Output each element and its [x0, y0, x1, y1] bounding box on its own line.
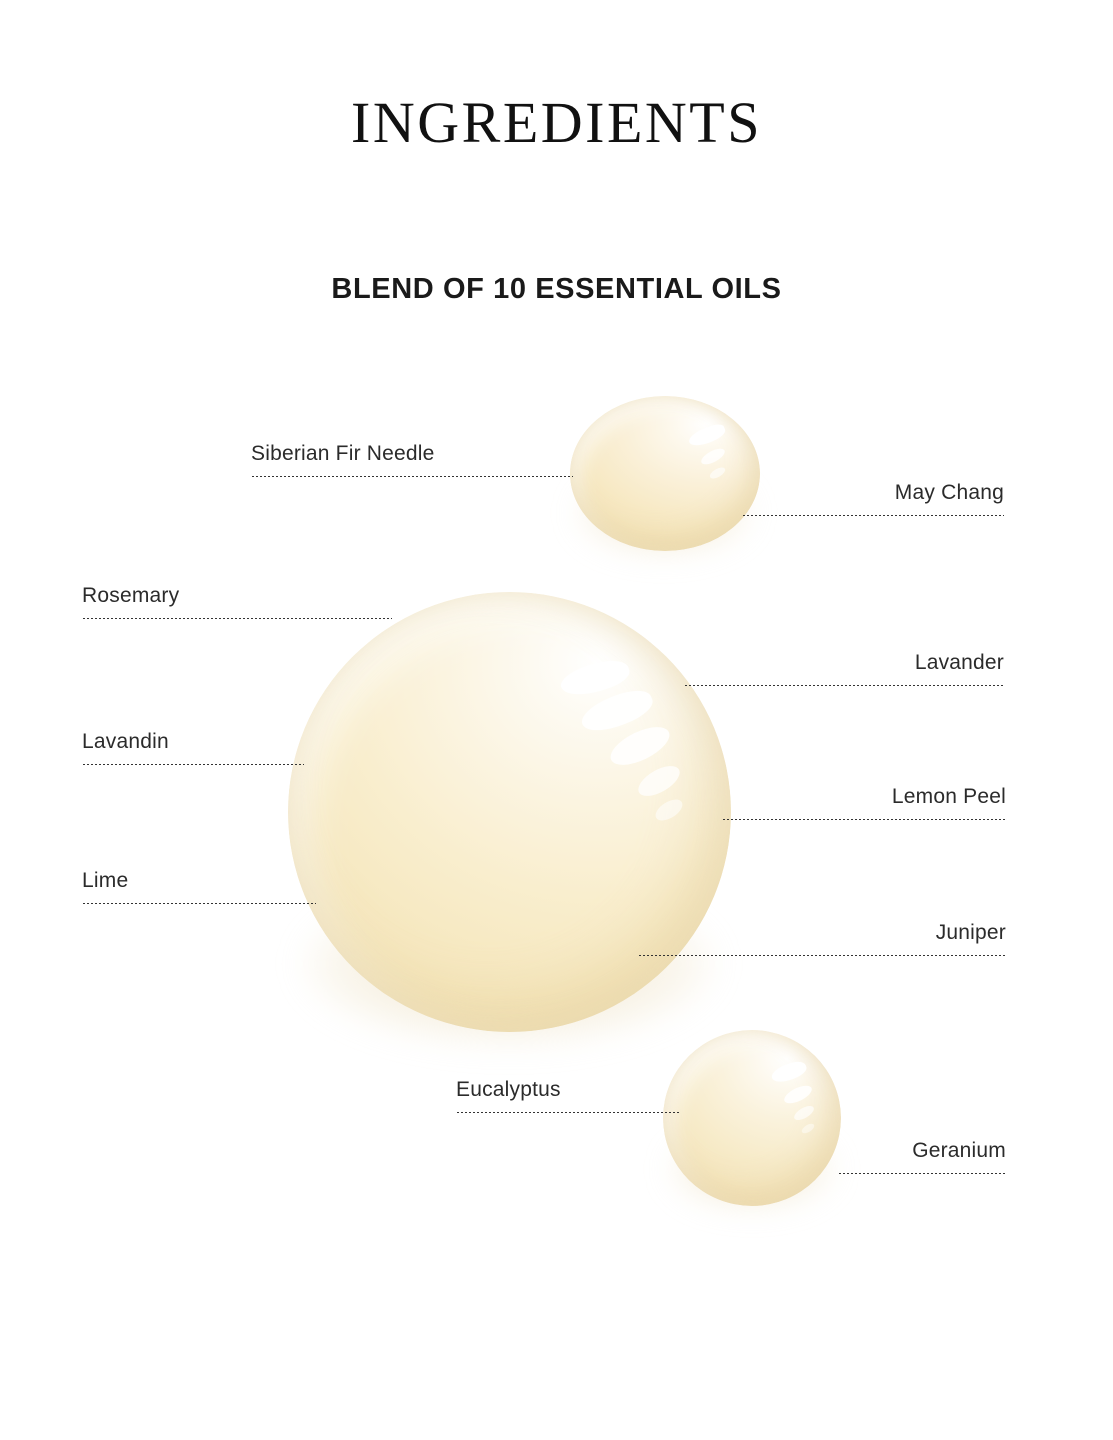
callout-label: Lavander — [684, 651, 1004, 674]
callout-juniper: Juniper — [638, 921, 1006, 956]
leader-line — [82, 903, 316, 904]
page-subtitle: BLEND OF 10 ESSENTIAL OILS — [0, 273, 1113, 306]
callout-label: Eucalyptus — [456, 1078, 680, 1101]
callout-siberian-fir-needle: Siberian Fir Needle — [251, 442, 573, 477]
leader-line — [838, 1173, 1006, 1174]
leader-line — [456, 1112, 680, 1113]
small-droplet-rim — [570, 396, 760, 551]
callout-geranium: Geranium — [838, 1139, 1006, 1174]
small-oil-droplet — [570, 396, 760, 551]
callout-label: Geranium — [838, 1139, 1006, 1162]
leader-line — [82, 618, 392, 619]
callout-lime: Lime — [82, 869, 316, 904]
callout-label: Juniper — [638, 921, 1006, 944]
callout-label: Siberian Fir Needle — [251, 442, 573, 465]
leader-line — [684, 685, 1004, 686]
medium-oil-droplet — [663, 1030, 841, 1206]
page-title: INGREDIENTS — [0, 93, 1113, 154]
leader-line — [638, 955, 1006, 956]
callout-rosemary: Rosemary — [82, 584, 392, 619]
callout-lavandin: Lavandin — [82, 730, 304, 765]
callout-label: Lime — [82, 869, 316, 892]
leader-line — [82, 764, 304, 765]
leader-line — [742, 515, 1004, 516]
callout-eucalyptus: Eucalyptus — [456, 1078, 680, 1113]
callout-label: Lemon Peel — [722, 785, 1006, 808]
leader-line — [251, 476, 573, 477]
callout-may-chang: May Chang — [742, 481, 1004, 516]
callout-label: Lavandin — [82, 730, 304, 753]
callout-label: May Chang — [742, 481, 1004, 504]
ingredients-infographic: INGREDIENTS BLEND OF 10 ESSENTIAL OILS S… — [0, 0, 1113, 1440]
callout-lavander: Lavander — [684, 651, 1004, 686]
medium-droplet-rim — [663, 1030, 841, 1206]
large-oil-droplet — [288, 592, 731, 1032]
callout-label: Rosemary — [82, 584, 392, 607]
callout-lemon-peel: Lemon Peel — [722, 785, 1006, 820]
leader-line — [722, 819, 1006, 820]
